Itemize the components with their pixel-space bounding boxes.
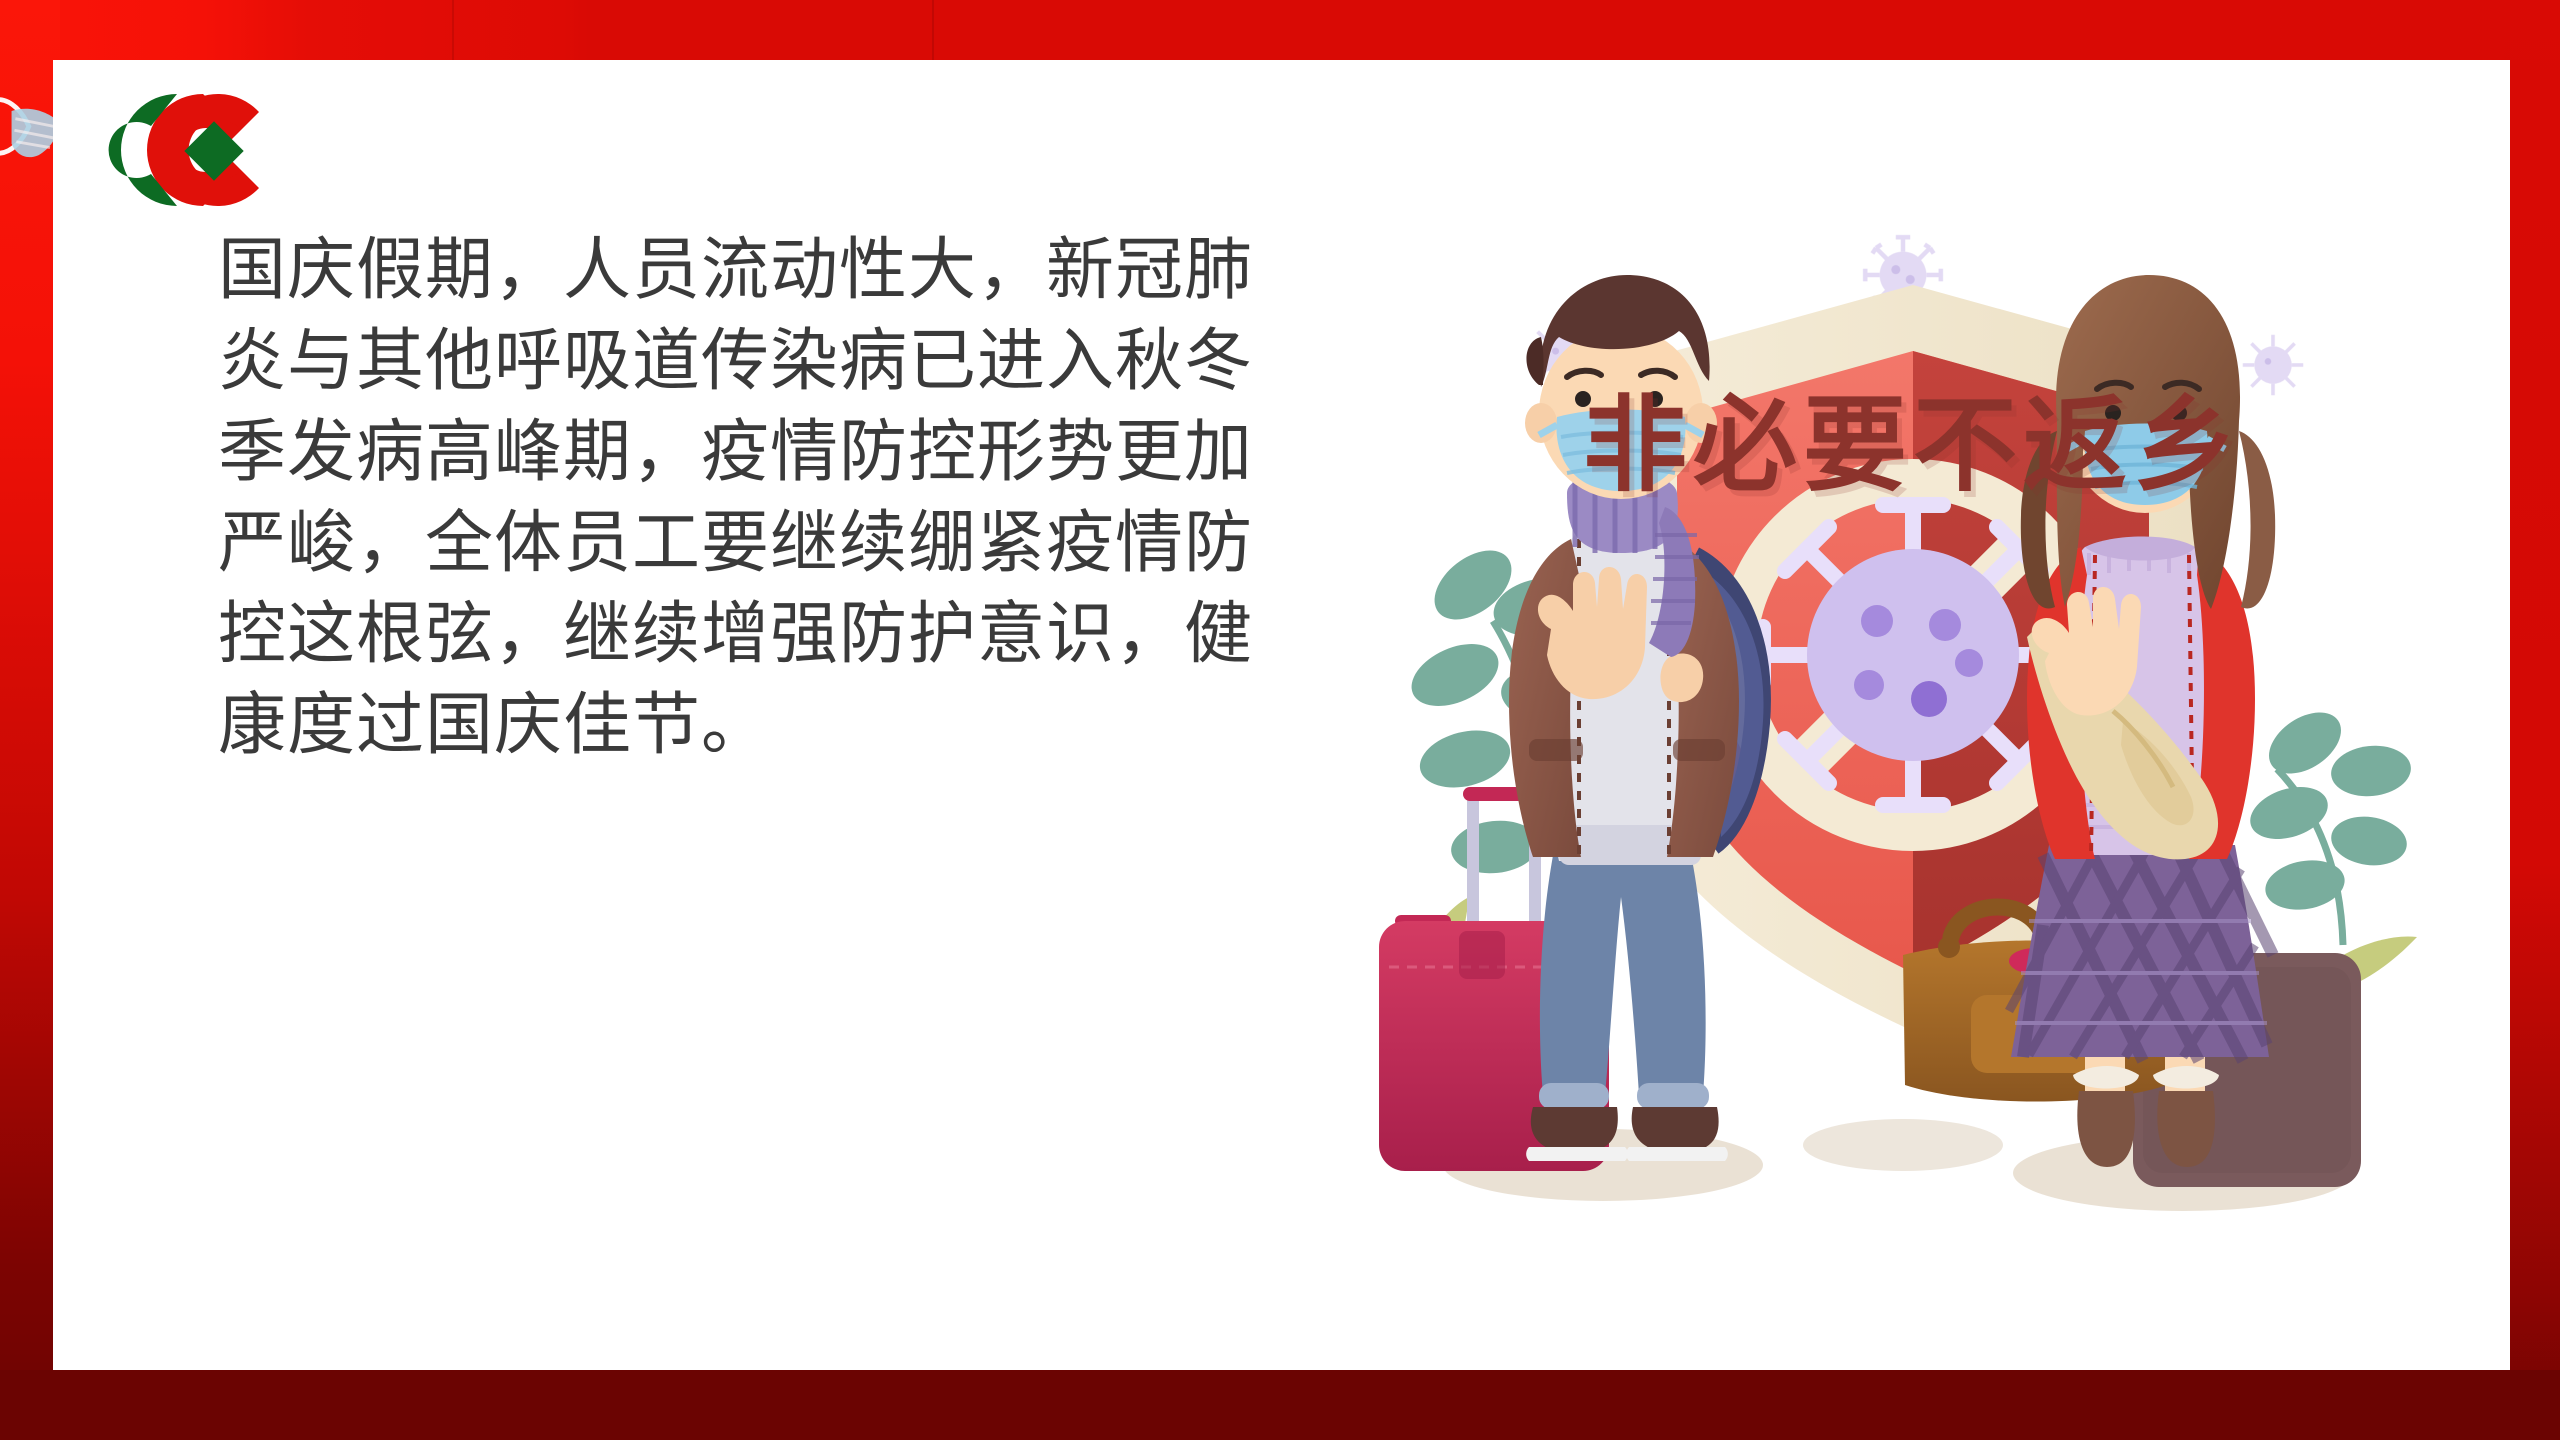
covid-illustration (1343, 155, 2453, 1265)
copy-line: 控这根弦，继续增强防护意识，健 (218, 589, 1398, 680)
foliage-right (2244, 700, 2414, 945)
body-copy: 国庆假期，人员流动性大，新冠肺 炎与其他呼吸道传染病已进入秋冬 季发病高峰期，疫… (218, 225, 1398, 771)
brand-logo[interactable] (59, 60, 279, 240)
copy-line: 季发病高峰期，疫情防控形势更加 (218, 407, 1398, 498)
content-card: 国庆假期，人员流动性大，新冠肺 炎与其他呼吸道传染病已进入秋冬 季发病高峰期，疫… (53, 60, 2510, 1370)
copy-line: 国庆假期，人员流动性大，新冠肺 (218, 225, 1398, 316)
slide-canvas: 国庆假期，人员流动性大，新冠肺 炎与其他呼吸道传染病已进入秋冬 季发病高峰期，疫… (0, 0, 2560, 1440)
background-seam-2 (932, 0, 934, 60)
background-seam-1 (452, 0, 454, 60)
ground-shadow-mid (1803, 1119, 2003, 1171)
left-red-gradient (0, 0, 60, 1440)
copy-line: 严峻，全体员工要继续绷紧疫情防 (218, 498, 1398, 589)
copy-line: 康度过国庆佳节。 (218, 680, 1398, 771)
illustration-headline: 非必要不返乡 (1583, 360, 2243, 511)
shield-virus (1763, 505, 2063, 805)
copy-line: 炎与其他呼吸道传染病已进入秋冬 (218, 316, 1398, 407)
bottom-dark-band (0, 1370, 2560, 1440)
right-red-gradient (2504, 0, 2560, 1440)
